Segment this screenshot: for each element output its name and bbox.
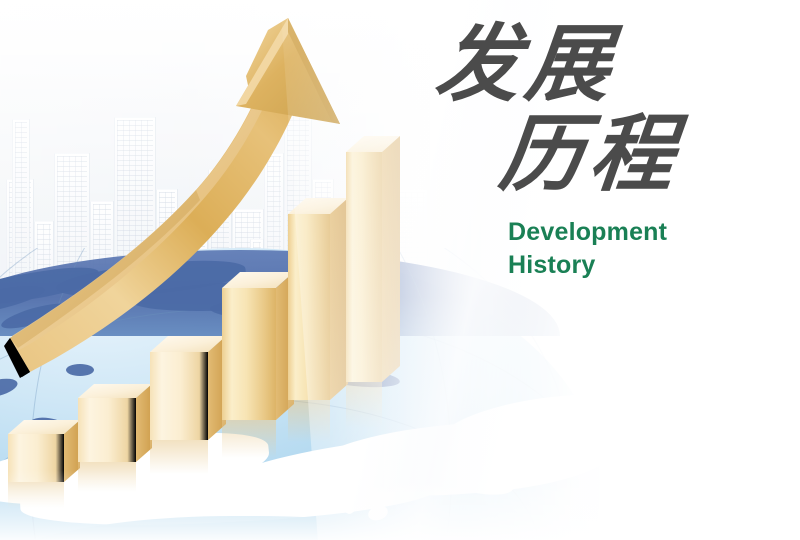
headline-block: 发展 历程 Development History (432, 24, 772, 282)
bar-4 (222, 272, 294, 458)
development-history-banner: 发展 历程 Development History (0, 0, 800, 540)
headline-english-block: Development History (508, 216, 772, 282)
headline-cjk-line-2: 历程 (496, 114, 777, 198)
headline-cjk-line-1: 发展 (432, 24, 777, 108)
bottom-white-fade (0, 470, 800, 540)
headline-english-line-1: Development (508, 216, 772, 249)
headline-english-line-2: History (508, 249, 772, 282)
bar-3 (150, 336, 226, 474)
